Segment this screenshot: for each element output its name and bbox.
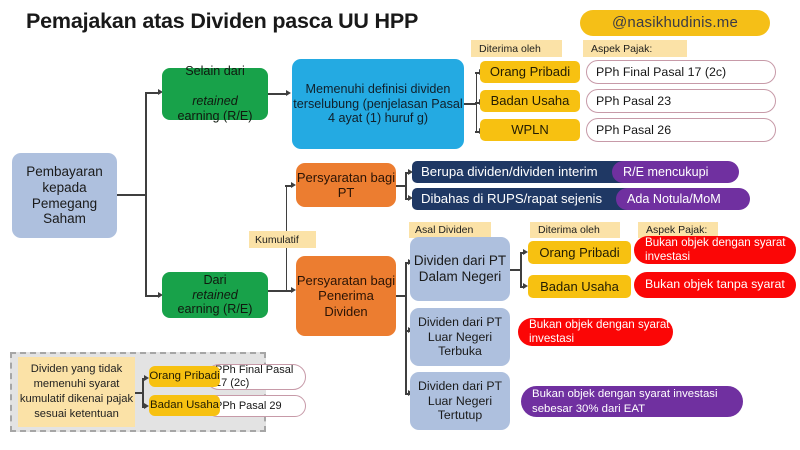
caption-diterima-oleh-top: Diterima oleh — [471, 40, 562, 57]
pill-label: PPh Pasal 23 — [596, 94, 775, 109]
node-persyaratan-bagi-pt: Persyaratan bagi PT — [296, 163, 396, 207]
pill-label: Ada Notula/MoM — [627, 192, 750, 207]
node-dividen-pt-luar-negeri-tertutup: Dividen dari PT Luar Negeri Tertutup — [410, 372, 510, 430]
arrow-selain-to-definisi — [286, 90, 291, 96]
node-dividen-pt-luar-negeri-terbuka: Dividen dari PT Luar Negeri Terbuka — [410, 308, 510, 366]
pill-tax-badan-usaha-mid: Bukan objek tanpa syarat — [634, 272, 796, 298]
watermark-badge: @nasikhudinis.me — [580, 10, 770, 36]
footnote-note-box: Dividen yang tidak memenuhi syarat kumul… — [18, 357, 135, 427]
pill-label: R/E mencukupi — [623, 165, 739, 180]
pill-tax-luar-negeri-tertutup: Bukan objek dengan syarat investasi sebe… — [521, 386, 743, 417]
node-selain-retained-earning: Selain dari retained earning (R/E) — [162, 68, 268, 120]
pill-label: PPh Final Pasal 17 (2c) — [596, 65, 775, 80]
node-label: Dividen dari PT Luar Negeri Terbuka — [410, 315, 510, 359]
caption-aspek-pajak-top: Aspek Pajak: — [583, 40, 687, 57]
dari-em: retained — [192, 288, 238, 302]
chip-label: Orang Pribadi — [528, 245, 631, 260]
chip-orang-pribadi-top: Orang Pribadi — [480, 61, 580, 83]
pill-tax-wpln-top: PPh Pasal 26 — [586, 118, 776, 142]
pill-tax-orang-pribadi-footnote: PPh Final Pasal 17 (2c) — [206, 364, 306, 390]
selain-pre: Selain dari — [162, 64, 268, 79]
chip-orang-pribadi-footnote: Orang Pribadi — [149, 366, 220, 387]
caption-asal-dividen: Asal Dividen — [409, 222, 491, 238]
node-persyaratan-bagi-penerima-dividen: Persyaratan bagi Penerima Dividen — [296, 256, 396, 336]
pill-tax-badan-usaha-footnote: PPh Pasal 29 — [206, 395, 306, 417]
caption-diterima-oleh-mid: Diterima oleh — [530, 222, 620, 238]
node-pembayaran-pemegang-saham: Pembayaran kepada Pemegang Saham — [12, 153, 117, 238]
node-label: Memenuhi definisi dividen terselubung (p… — [292, 82, 464, 127]
node-label: Persyaratan bagi PT — [296, 170, 396, 201]
pill-label: Bukan objek tanpa syarat — [645, 277, 796, 293]
dari-post: earning (R/E) — [162, 302, 268, 317]
footnote-note-label: Dividen yang tidak memenuhi syarat kumul… — [18, 362, 135, 422]
connector-penerima-spine — [405, 262, 407, 394]
pill-label: PPh Pasal 29 — [215, 400, 305, 413]
caption-kumulatif: Kumulatif — [249, 231, 316, 248]
chip-badan-usaha-footnote: Badan Usaha — [149, 395, 220, 416]
pill-ada-notula-mom: Ada Notula/MoM — [616, 188, 750, 210]
chip-label: WPLN — [480, 122, 580, 137]
connector-pt-spine — [405, 172, 407, 199]
node-label: Dari retained earning (R/E) — [162, 273, 268, 318]
selain-post: earning (R/E) — [162, 109, 268, 124]
node-label: Selain dari retained earning (R/E) — [162, 64, 268, 123]
pill-label: Bukan objek dengan syarat investasi sebe… — [532, 387, 743, 416]
dari-pre: Dari — [162, 273, 268, 288]
chip-label: Badan Usaha — [480, 93, 580, 108]
selain-em: retained — [192, 94, 238, 108]
chip-label: Badan Usaha — [528, 279, 631, 294]
connector-dn-spine — [520, 252, 522, 287]
pill-re-mencukupi: R/E mencukupi — [612, 161, 739, 183]
chip-label: Badan Usaha — [149, 399, 220, 412]
pill-label: Bukan objek dengan syarat investasi — [529, 318, 673, 347]
node-label: Persyaratan bagi Penerima Dividen — [296, 273, 396, 319]
node-dividen-pt-dalam-negeri: Dividen dari PT Dalam Negeri — [410, 237, 510, 301]
pill-tax-luar-negeri-terbuka: Bukan objek dengan syarat investasi — [518, 318, 673, 346]
chip-wpln-top: WPLN — [480, 119, 580, 141]
chip-label: Orang Pribadi — [480, 64, 580, 79]
chip-badan-usaha-mid: Badan Usaha — [528, 275, 631, 298]
node-label: Pembayaran kepada Pemegang Saham — [12, 164, 117, 228]
chip-label: Orang Pribadi — [149, 370, 220, 383]
node-dari-retained-earning: Dari retained earning (R/E) — [162, 272, 268, 318]
pill-tax-badan-usaha-top: PPh Pasal 23 — [586, 89, 776, 113]
pill-tax-orang-pribadi-top: PPh Final Pasal 17 (2c) — [586, 60, 776, 84]
pill-label: PPh Final Pasal 17 (2c) — [215, 364, 305, 389]
pill-label: PPh Pasal 26 — [596, 123, 775, 138]
page-title: Pemajakan atas Dividen pasca UU HPP — [26, 9, 418, 34]
connector-selain-to-definisi — [268, 93, 288, 95]
node-label: Dividen dari PT Luar Negeri Tertutup — [410, 379, 510, 423]
node-definisi-dividen-terselubung: Memenuhi definisi dividen terselubung (p… — [292, 59, 464, 149]
connector-root-spine — [145, 92, 147, 296]
pill-label: Bukan objek dengan syarat investasi — [645, 236, 796, 265]
pill-tax-orang-pribadi-mid: Bukan objek dengan syarat investasi — [634, 236, 796, 264]
connector-root-stem — [117, 194, 146, 196]
chip-badan-usaha-top: Badan Usaha — [480, 90, 580, 112]
chip-orang-pribadi-mid: Orang Pribadi — [528, 241, 631, 264]
node-label: Dividen dari PT Dalam Negeri — [410, 253, 510, 285]
diagram-canvas: Pemajakan atas Dividen pasca UU HPP @nas… — [0, 0, 800, 450]
